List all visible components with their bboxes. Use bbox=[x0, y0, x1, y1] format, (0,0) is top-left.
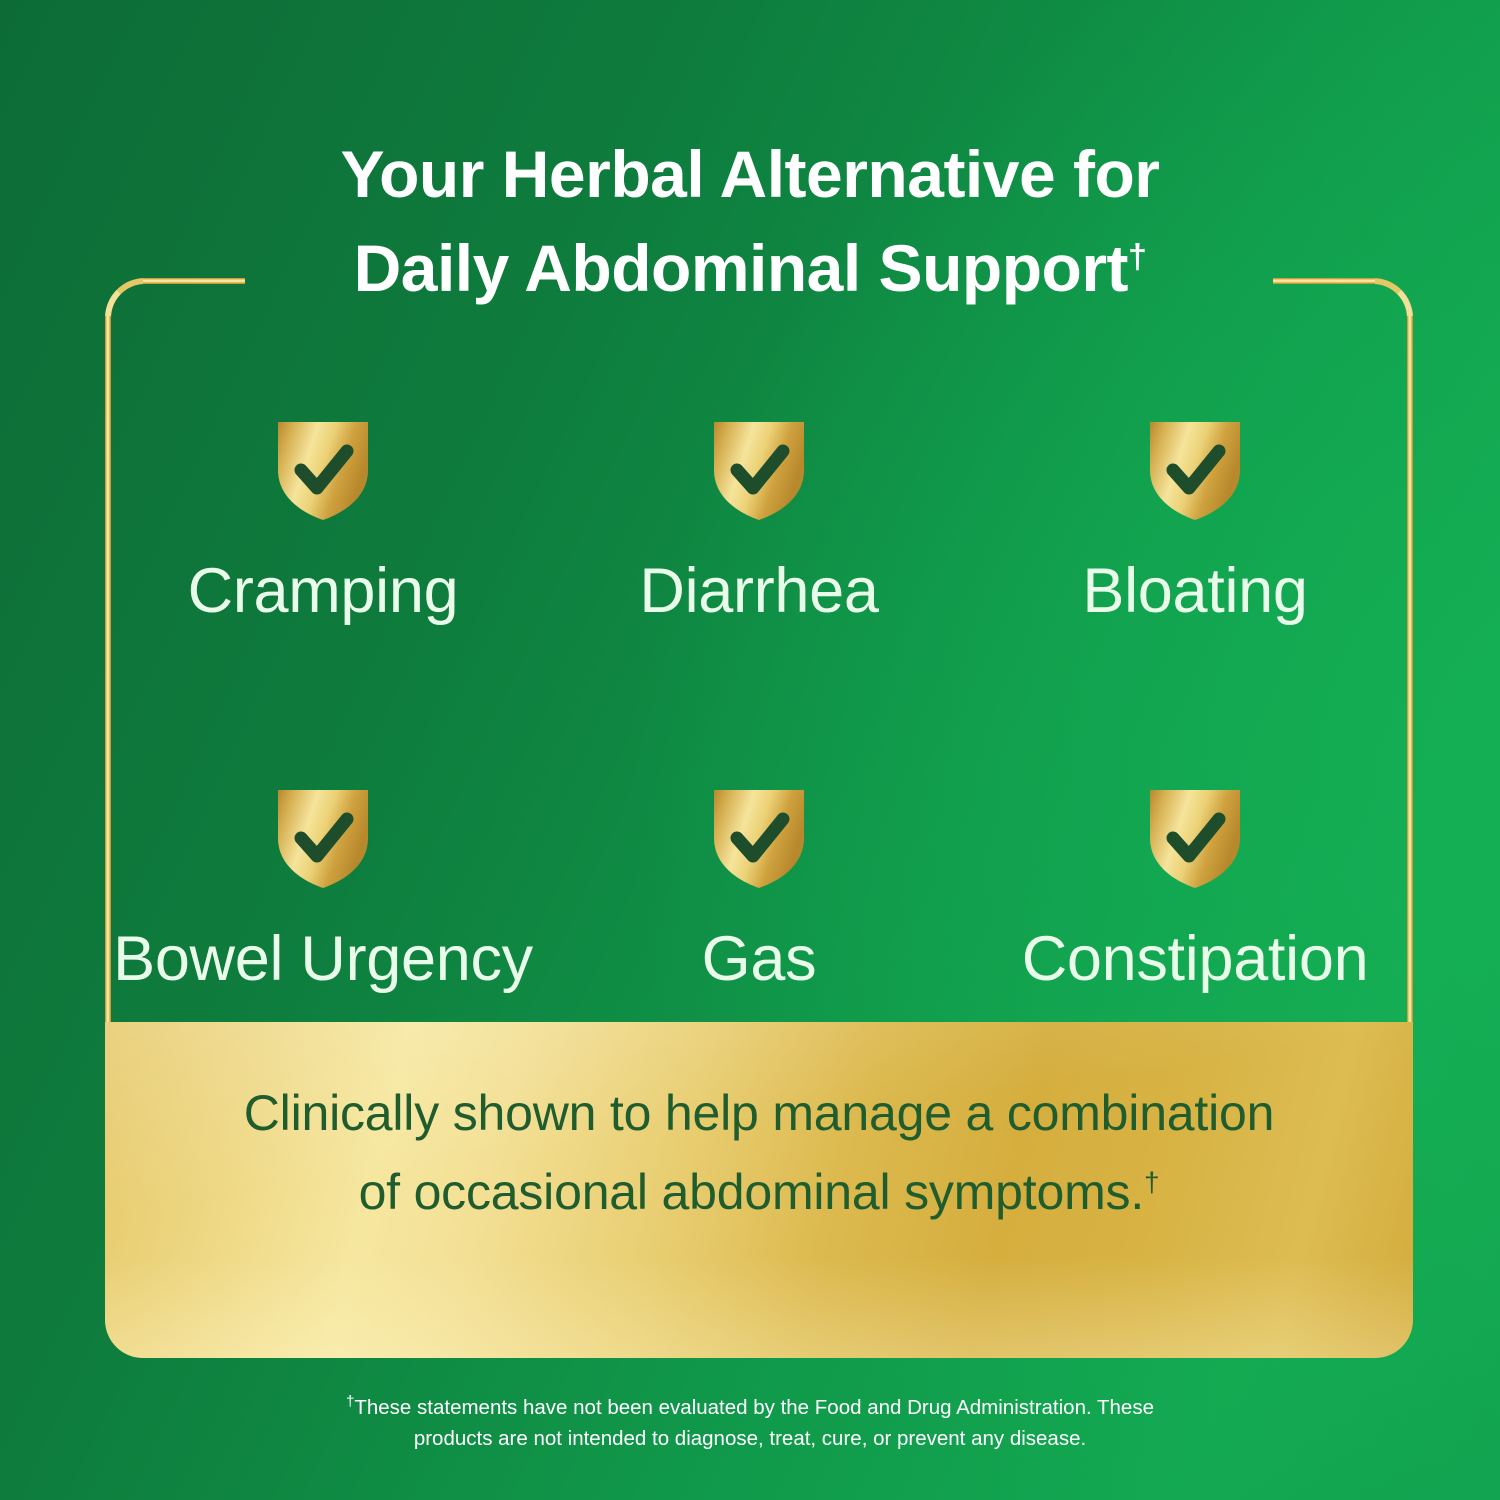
symptom-label: Diarrhea bbox=[639, 560, 878, 623]
symptom-label: Cramping bbox=[188, 560, 459, 623]
claim-banner-text: Clinically shown to help manage a combin… bbox=[105, 1022, 1413, 1232]
frame-edge-top-left bbox=[143, 278, 245, 284]
shield-check-icon bbox=[1146, 786, 1244, 890]
claim-banner: Clinically shown to help manage a combin… bbox=[105, 1022, 1413, 1358]
shield-check-icon bbox=[1146, 418, 1244, 522]
symptom-label: Bowel Urgency bbox=[113, 928, 533, 991]
symptom-item-bloating: Bloating bbox=[977, 418, 1413, 668]
symptom-item-bowel-urgency: Bowel Urgency bbox=[105, 786, 541, 991]
symptom-label: Gas bbox=[702, 928, 817, 991]
symptom-label: Bloating bbox=[1082, 560, 1307, 623]
fda-disclaimer: †These statements have not been evaluate… bbox=[250, 1392, 1250, 1454]
claim-line2: of occasional abdominal symptoms. bbox=[359, 1164, 1144, 1220]
symptom-label: Constipation bbox=[1022, 928, 1369, 991]
frame-edge-top-right bbox=[1273, 278, 1375, 284]
disclaimer-line2: products are not intended to diagnose, t… bbox=[250, 1423, 1250, 1454]
dagger-symbol-title: † bbox=[1128, 238, 1146, 276]
symptom-row-1: Cramping Diarrhea Bloating bbox=[105, 418, 1413, 668]
symptom-item-gas: Gas bbox=[541, 786, 977, 991]
claim-line2-wrap: of occasional abdominal symptoms.† bbox=[175, 1153, 1343, 1232]
shield-check-icon bbox=[710, 418, 808, 522]
symptom-grid: Cramping Diarrhea Bloating Bowel Urgency bbox=[105, 418, 1413, 991]
symptom-item-cramping: Cramping bbox=[105, 418, 541, 668]
claim-line1: Clinically shown to help manage a combin… bbox=[175, 1074, 1343, 1153]
shield-check-icon bbox=[710, 786, 808, 890]
shield-check-icon bbox=[274, 786, 372, 890]
symptom-item-constipation: Constipation bbox=[977, 786, 1413, 991]
symptom-item-diarrhea: Diarrhea bbox=[541, 418, 977, 668]
dagger-symbol-claim: † bbox=[1144, 1166, 1159, 1197]
page-title-line1: Your Herbal Alternative for bbox=[0, 128, 1500, 222]
frame-corner-top-left bbox=[105, 278, 149, 322]
disclaimer-line1: These statements have not been evaluated… bbox=[354, 1396, 1154, 1419]
symptom-row-2: Bowel Urgency Gas Constipation bbox=[105, 786, 1413, 991]
shield-check-icon bbox=[274, 418, 372, 522]
